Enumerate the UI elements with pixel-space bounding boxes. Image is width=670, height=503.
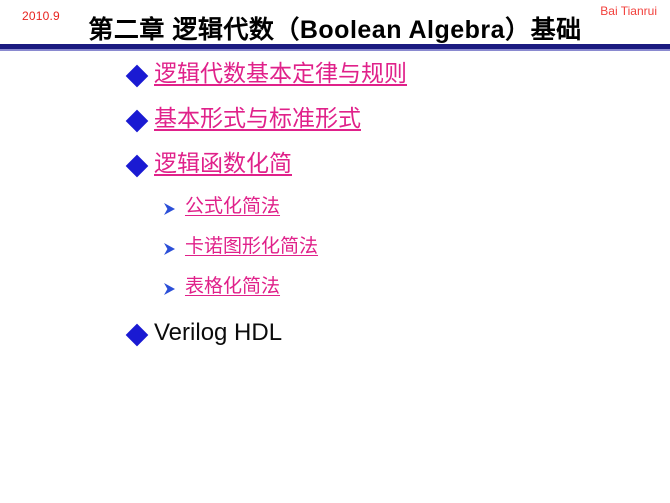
arrow-bullet-icon xyxy=(163,242,177,256)
outline-item-label: 逻辑代数基本定律与规则 xyxy=(154,58,407,90)
outline-item-2[interactable]: 基本形式与标准形式 xyxy=(0,103,670,148)
outline-subitem-3[interactable]: 表格化简法 xyxy=(0,273,670,313)
outline-subitem-2[interactable]: 卡诺图形化简法 xyxy=(0,233,670,273)
outline-item-label: Verilog HDL xyxy=(154,317,282,349)
author-stamp: Bai Tianrui xyxy=(600,4,657,18)
arrow-bullet-icon xyxy=(163,282,177,296)
outline-subitem-label: 卡诺图形化简法 xyxy=(185,233,318,260)
outline-subitem-1[interactable]: 公式化简法 xyxy=(0,193,670,233)
diamond-bullet-icon xyxy=(126,65,149,88)
outline-item-label: 逻辑函数化简 xyxy=(154,148,292,180)
arrow-bullet-icon xyxy=(163,202,177,216)
outline-subitem-label: 表格化简法 xyxy=(185,273,280,300)
presentation-slide: 2010.9 第二章 逻辑代数（Boolean Algebra）基础 Bai T… xyxy=(0,0,670,503)
outline-item-label: 基本形式与标准形式 xyxy=(154,103,361,135)
slide-header: 2010.9 第二章 逻辑代数（Boolean Algebra）基础 Bai T… xyxy=(0,0,670,46)
diamond-bullet-icon xyxy=(126,155,149,178)
outline-subitem-label: 公式化简法 xyxy=(185,193,280,220)
page-title: 第二章 逻辑代数（Boolean Algebra）基础 xyxy=(0,10,670,46)
outline-item-1[interactable]: 逻辑代数基本定律与规则 xyxy=(0,58,670,103)
outline-list: 逻辑代数基本定律与规则 基本形式与标准形式 逻辑函数化简 公式化简法 xyxy=(0,58,670,362)
outline-item-3[interactable]: 逻辑函数化简 xyxy=(0,148,670,193)
diamond-bullet-icon xyxy=(126,110,149,133)
outline-item-4[interactable]: Verilog HDL xyxy=(0,317,670,362)
title-divider-light xyxy=(0,49,670,51)
diamond-bullet-icon xyxy=(126,324,149,347)
